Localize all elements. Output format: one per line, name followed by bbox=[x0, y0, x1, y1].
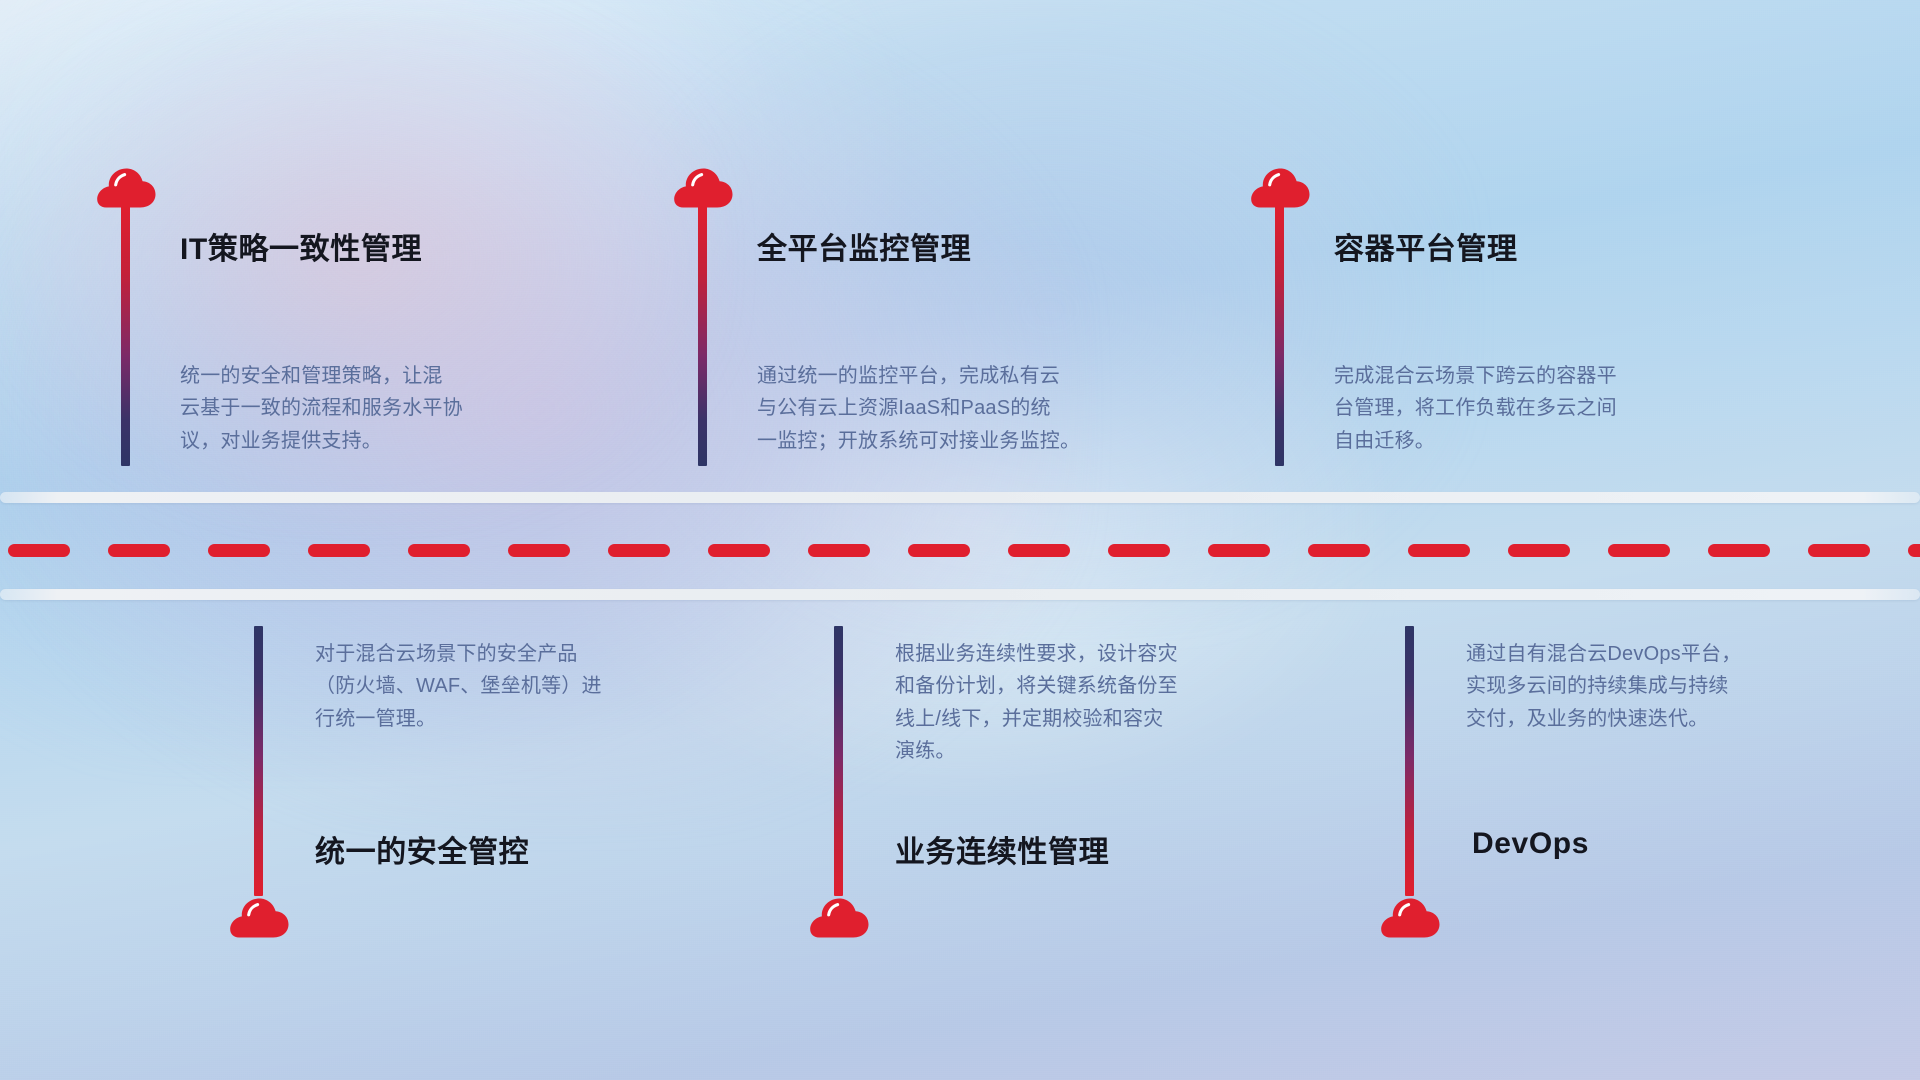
road-dash-segment bbox=[708, 544, 770, 557]
road-dash-segment bbox=[1808, 544, 1870, 557]
road-dash-segment bbox=[1908, 544, 1920, 557]
cloud-icon bbox=[228, 892, 290, 938]
road-dash-segment bbox=[508, 544, 570, 557]
road-dashed-line bbox=[0, 544, 1920, 557]
infographic-canvas: IT策略一致性管理 统一的安全和管理策略，让混 云基于一致的流程和服务水平协 议… bbox=[0, 0, 1920, 1080]
milestone-description: 统一的安全和管理策略，让混 云基于一致的流程和服务水平协 议，对业务提供支持。 bbox=[180, 360, 620, 457]
road-dash-segment bbox=[608, 544, 670, 557]
milestone-title: 全平台监控管理 bbox=[757, 224, 971, 268]
milestone-stem bbox=[834, 626, 843, 896]
road-dash-segment bbox=[8, 544, 70, 557]
milestone-title: IT策略一致性管理 bbox=[180, 224, 422, 268]
milestone-description: 通过自有混合云DevOps平台， 实现多云间的持续集成与持续 交付，及业务的快速… bbox=[1466, 638, 1896, 735]
road-dash-segment bbox=[408, 544, 470, 557]
road-dash-segment bbox=[908, 544, 970, 557]
road-dash-segment bbox=[308, 544, 370, 557]
road-rail-bottom bbox=[0, 589, 1920, 600]
milestone-description: 完成混合云场景下跨云的容器平 台管理，将工作负载在多云之间 自由迁移。 bbox=[1334, 360, 1784, 457]
road-dash-segment bbox=[1208, 544, 1270, 557]
milestone-title: DevOps bbox=[1472, 827, 1589, 861]
milestone-stem bbox=[698, 206, 707, 466]
cloud-icon bbox=[1249, 162, 1311, 208]
road-dash-segment bbox=[1108, 544, 1170, 557]
cloud-icon bbox=[95, 162, 157, 208]
milestone-title: 业务连续性管理 bbox=[895, 827, 1109, 871]
road-dash-segment bbox=[1408, 544, 1470, 557]
milestone-stem bbox=[121, 206, 130, 466]
milestone-stem bbox=[254, 626, 263, 896]
road-dash-segment bbox=[1308, 544, 1370, 557]
road-dash-segment bbox=[1508, 544, 1570, 557]
road-dash-segment bbox=[108, 544, 170, 557]
milestone-description: 对于混合云场景下的安全产品 （防火墙、WAF、堡垒机等）进 行统一管理。 bbox=[315, 638, 755, 735]
road-dash-segment bbox=[1708, 544, 1770, 557]
cloud-icon bbox=[1379, 892, 1441, 938]
road-rail-top bbox=[0, 492, 1920, 503]
milestone-title: 统一的安全管控 bbox=[315, 827, 529, 871]
milestone-stem bbox=[1275, 206, 1284, 466]
road-dash-segment bbox=[1608, 544, 1670, 557]
road-dash-segment bbox=[1008, 544, 1070, 557]
cloud-icon bbox=[672, 162, 734, 208]
milestone-description: 根据业务连续性要求，设计容灾 和备份计划，将关键系统备份至 线上/线下，并定期校… bbox=[895, 638, 1335, 768]
milestone-title: 容器平台管理 bbox=[1334, 224, 1518, 268]
cloud-icon bbox=[808, 892, 870, 938]
road-dash-segment bbox=[208, 544, 270, 557]
milestone-stem bbox=[1405, 626, 1414, 896]
road-dash-segment bbox=[808, 544, 870, 557]
milestone-description: 通过统一的监控平台，完成私有云 与公有云上资源IaaS和PaaS的统 一监控；开… bbox=[757, 360, 1227, 457]
